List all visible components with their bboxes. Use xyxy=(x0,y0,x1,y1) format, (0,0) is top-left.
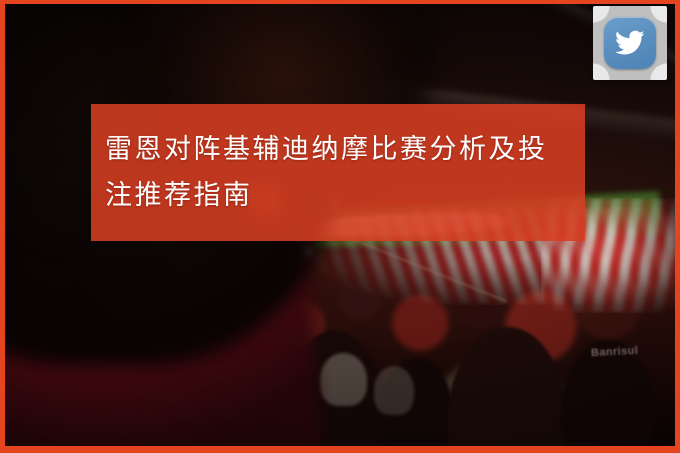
screenshot-root: Banrisul nrisul 雷恩对阵基辅迪纳摩比赛分析及投 注推荐指南 xyxy=(0,0,680,453)
twitter-bird-icon xyxy=(615,30,645,56)
crowd-cap xyxy=(320,353,367,406)
jersey-sponsor-text: Banrisul xyxy=(591,344,639,358)
title-line-1: 雷恩对阵基辅迪纳摩比赛分析及投 xyxy=(105,127,585,173)
crowd-cap xyxy=(374,366,414,415)
title-banner: 雷恩对阵基辅迪纳摩比赛分析及投 注推荐指南 xyxy=(91,104,585,241)
photo-frame: Banrisul nrisul 雷恩对阵基辅迪纳摩比赛分析及投 注推荐指南 xyxy=(5,4,675,446)
title-line-2: 注推荐指南 xyxy=(105,173,585,219)
twitter-icon-tile[interactable] xyxy=(604,17,656,69)
twitter-share-badge[interactable] xyxy=(593,6,667,80)
